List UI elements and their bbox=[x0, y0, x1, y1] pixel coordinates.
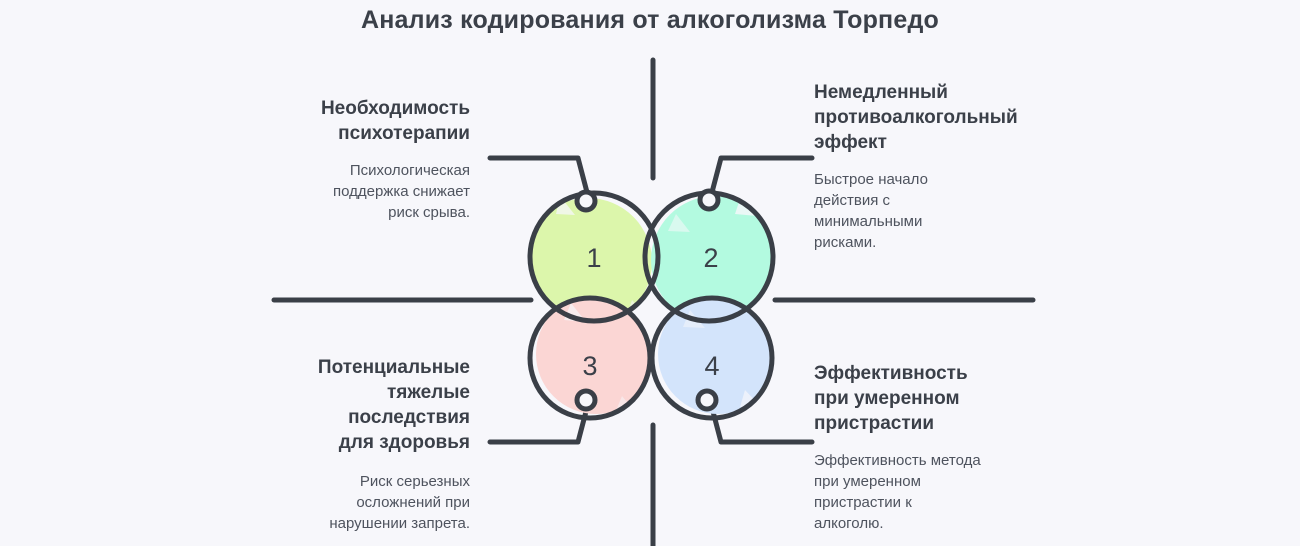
connector-ring-1 bbox=[577, 192, 595, 210]
callout-body-4: Эффективность метода при умеренном прист… bbox=[814, 450, 1064, 534]
callout-block-1[interactable]: Необходимость психотерапии Психологическ… bbox=[230, 96, 470, 223]
callout-block-2[interactable]: Немедленный противоалкогольный эффект Бы… bbox=[814, 80, 1074, 253]
connector-2 bbox=[711, 158, 812, 196]
circle-number-3: 3 bbox=[582, 351, 597, 381]
circle-number-4: 4 bbox=[704, 351, 719, 381]
circle-number-2: 2 bbox=[703, 243, 718, 273]
circle-number-1: 1 bbox=[586, 243, 601, 273]
callout-block-3[interactable]: Потенциальные тяжелые последствия для зд… bbox=[230, 355, 470, 534]
callout-block-4[interactable]: Эффективность при умеренном пристрастии … bbox=[814, 361, 1064, 534]
connector-ring-2 bbox=[700, 191, 718, 209]
connector-1 bbox=[490, 158, 588, 196]
connector-ring-3 bbox=[577, 391, 595, 409]
infographic-canvas: Анализ кодирования от алкоголизма Торпед… bbox=[0, 0, 1300, 546]
callout-heading-4: Эффективность при умеренном пристрастии bbox=[814, 361, 1064, 436]
callout-body-3: Риск серьезных осложнений при нарушении … bbox=[230, 471, 470, 534]
connector-3 bbox=[490, 404, 588, 442]
callout-heading-1: Необходимость психотерапии bbox=[230, 96, 470, 146]
callout-body-1: Психологическая поддержка снижает риск с… bbox=[230, 160, 470, 223]
callout-heading-3: Потенциальные тяжелые последствия для зд… bbox=[230, 355, 470, 455]
callout-body-2: Быстрое начало действия с минимальными р… bbox=[814, 169, 1074, 253]
diagram-graphics: 1 2 3 4 bbox=[0, 0, 1300, 546]
callout-heading-2: Немедленный противоалкогольный эффект bbox=[814, 80, 1074, 155]
connector-ring-4 bbox=[698, 391, 716, 409]
